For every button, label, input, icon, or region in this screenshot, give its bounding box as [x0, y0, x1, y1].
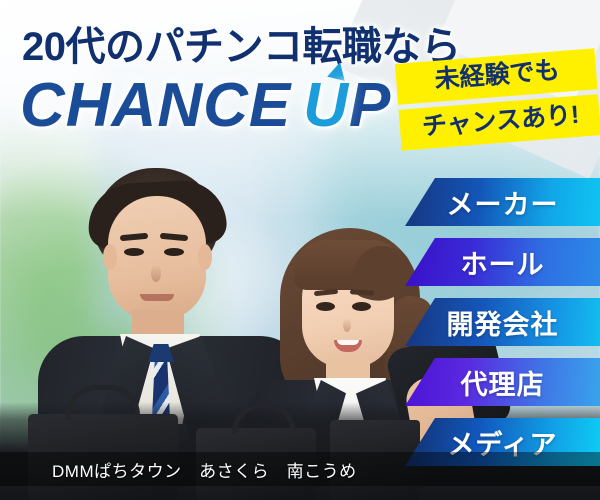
- woman-eye-left: [316, 302, 335, 311]
- category-label: 代理店: [461, 363, 545, 402]
- category-button-development-company[interactable]: 開発会社: [405, 298, 600, 346]
- category-button-maker[interactable]: メーカー: [405, 178, 600, 226]
- headline-up-letter-p: P: [349, 71, 391, 140]
- headline-chance-word: CHANCE: [20, 71, 291, 140]
- category-label: 開発会社: [447, 303, 559, 342]
- category-button-agency[interactable]: 代理店: [405, 358, 600, 406]
- promo-banner: 20代のパチンコ転職なら CHANCEUP 未経験でも チャンスあり! メーカー…: [0, 0, 600, 500]
- caption-text: DMMぱちタウン あさくら 南こうめ: [0, 457, 357, 482]
- man-ear-left: [103, 244, 117, 270]
- category-label: メーカー: [447, 183, 559, 222]
- experience-badge: 未経験でも チャンスあり!: [395, 48, 600, 150]
- woman-teeth: [337, 340, 359, 345]
- man-mouth: [140, 294, 174, 301]
- briefcase-handle-middle: [232, 403, 296, 434]
- man-eye-right: [164, 248, 184, 256]
- headline-up-letter-u: U: [303, 71, 349, 140]
- category-list: メーカー ホール 開発会社 代理店 メディア: [390, 178, 600, 466]
- woman-eye-right: [352, 302, 371, 311]
- woman-nose: [343, 318, 351, 332]
- man-nose: [151, 264, 161, 282]
- category-button-hall[interactable]: ホール: [405, 238, 600, 286]
- man-ear-right: [198, 244, 212, 270]
- man-face: [108, 196, 206, 320]
- category-label: ホール: [461, 243, 545, 282]
- headline-main: CHANCEUP: [20, 70, 391, 141]
- man-eye-left: [124, 248, 144, 256]
- caption-bar: DMMぱちタウン あさくら 南こうめ: [0, 452, 600, 486]
- headline-up-lockup: UP: [303, 70, 391, 141]
